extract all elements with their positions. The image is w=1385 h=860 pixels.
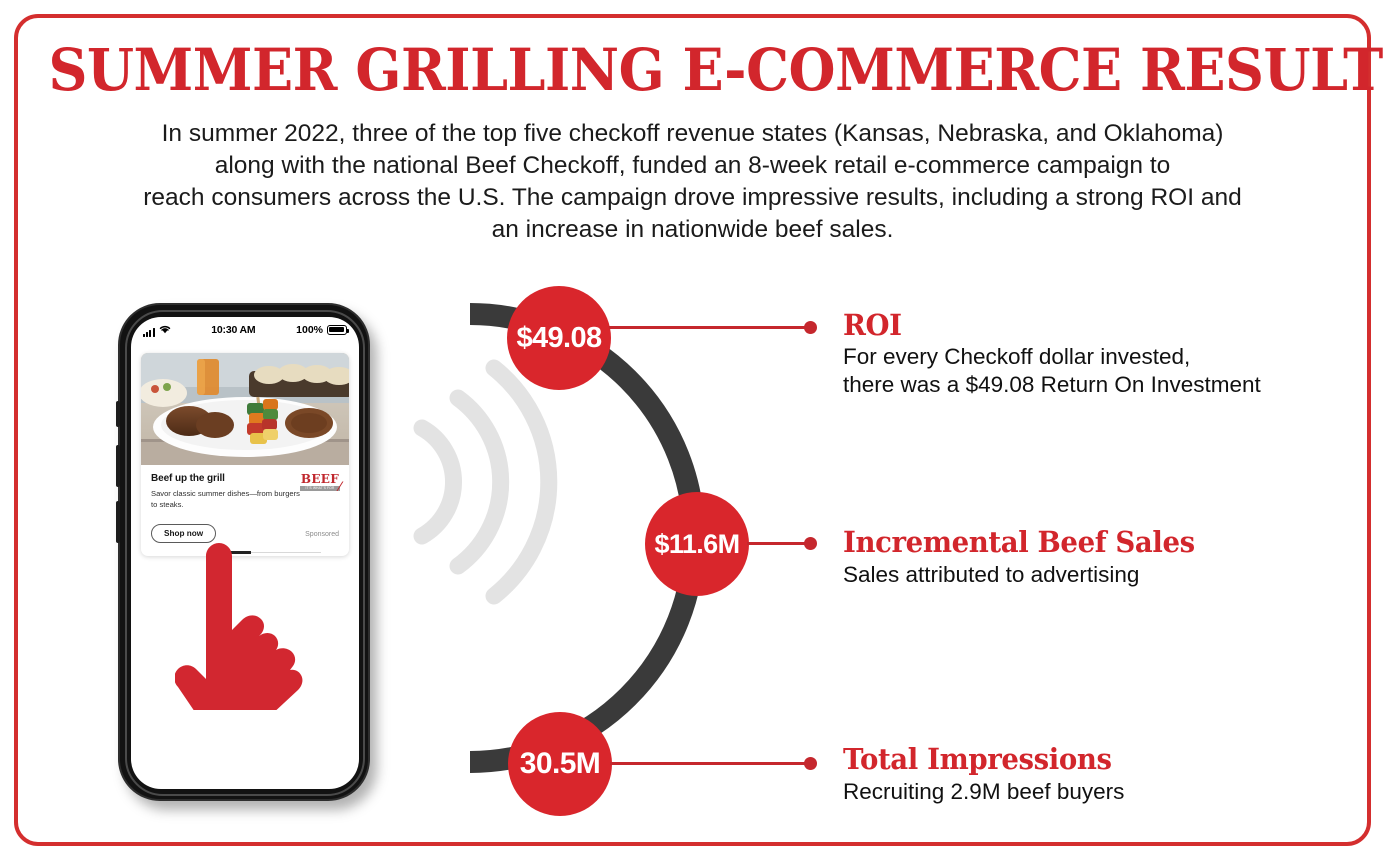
stat-subtext: Sales attributed to advertising [843, 561, 1139, 589]
stat-subtext: For every Checkoff dollar invested, [843, 343, 1190, 371]
stat-leader-line [610, 762, 814, 765]
phone-status-bar: 10:30 AM 100% [131, 317, 359, 343]
ad-photo [141, 353, 349, 465]
stat-value-bubble: $11.6M [645, 492, 749, 596]
beef-logo-swoosh-icon: ⁄ [339, 480, 341, 495]
beef-logo-tagline: IT'S WHAT'S FOR DINNER [300, 486, 340, 496]
stat-heading: ROI [843, 308, 902, 342]
stat-subtext: Recruiting 2.9M beef buyers [843, 778, 1124, 806]
pointing-hand-cursor-icon [175, 535, 335, 710]
intro-line: In summer 2022, three of the top five ch… [78, 118, 1308, 150]
infographic-root: SUMMER GRILLING E-COMMERCE RESULTS In su… [0, 0, 1385, 860]
page-title: SUMMER GRILLING E-COMMERCE RESULTS [48, 36, 1336, 104]
stat-heading: Total Impressions [843, 742, 1112, 776]
phone-volume-down-button [116, 501, 120, 543]
intro-line: reach consumers across the U.S. The camp… [78, 182, 1308, 214]
beef-logo-wordmark: BEEF [300, 473, 340, 485]
intro-line: along with the national Beef Checkoff, f… [78, 150, 1308, 182]
stat-leader-line [609, 326, 814, 329]
battery-full-icon [327, 325, 347, 335]
stat-leader-dot [804, 321, 817, 334]
phone-mute-switch [116, 401, 120, 427]
signal-waves-icon [422, 368, 549, 596]
status-left-group [143, 324, 171, 337]
battery-percent-label: 100% [296, 324, 323, 336]
stat-subtext: there was a $49.08 Return On Investment [843, 371, 1261, 399]
intro-paragraph: In summer 2022, three of the top five ch… [78, 118, 1308, 246]
status-time: 10:30 AM [171, 324, 297, 336]
beef-logo-tagline-bar: IT'S WHAT'S FOR DINNER [300, 486, 340, 491]
intro-line: an increase in nationwide beef sales. [78, 214, 1308, 246]
stat-heading: Incremental Beef Sales [843, 525, 1195, 559]
stat-value-bubble: $49.08 [507, 286, 611, 390]
signal-bars-icon [143, 328, 155, 337]
phone-volume-up-button [116, 445, 120, 487]
beef-brand-logo: BEEF IT'S WHAT'S FOR DINNER ⁄ [300, 473, 340, 497]
status-right-group: 100% [296, 324, 347, 336]
wifi-icon [159, 324, 171, 337]
stat-leader-dot [804, 757, 817, 770]
stat-leader-dot [804, 537, 817, 550]
ad-card[interactable]: BEEF IT'S WHAT'S FOR DINNER ⁄ Beef up th… [141, 353, 349, 556]
stat-value-bubble: 30.5M [508, 712, 612, 816]
ad-description: Savor classic summer dishes—from burgers… [151, 488, 301, 510]
